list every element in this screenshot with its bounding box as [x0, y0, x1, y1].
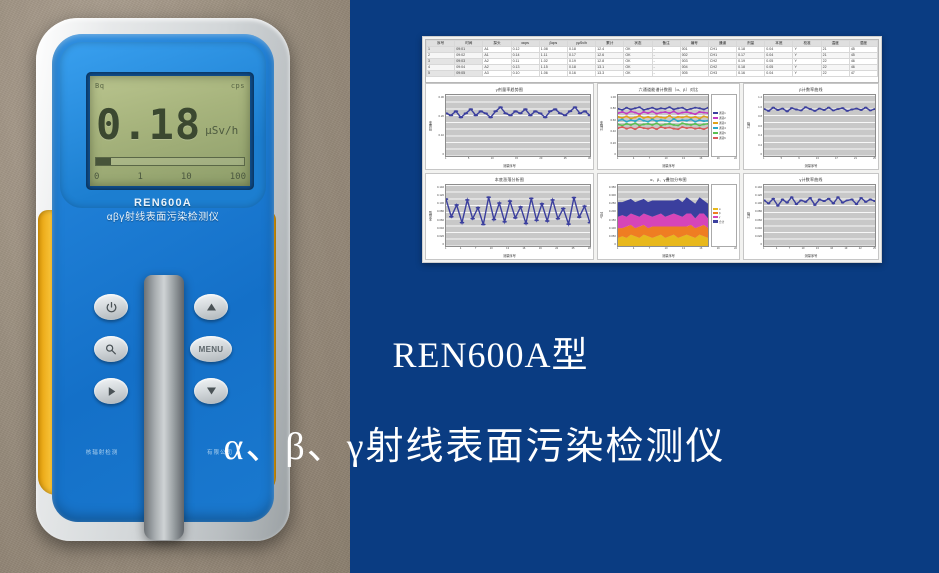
legend-label: 合计	[719, 220, 724, 224]
chart-data-point	[799, 109, 803, 111]
chart-data-point	[813, 204, 817, 206]
chart-data-point	[822, 200, 826, 202]
chart-ytick: 0.140	[755, 185, 762, 189]
table-cell: 22	[821, 71, 849, 77]
chart-plot-area	[763, 184, 876, 247]
chart-data-point	[685, 115, 688, 117]
chart-data-point	[668, 127, 671, 129]
chart-data-point	[556, 218, 561, 220]
chart-data-point	[533, 110, 538, 112]
chart-data-point	[668, 106, 671, 108]
legend-swatch	[713, 117, 718, 120]
chart-ytick: 0.100	[437, 201, 444, 205]
chart-data-point	[488, 116, 493, 118]
chart-xtick: 13	[682, 157, 685, 160]
chart-data-point	[563, 114, 568, 116]
chart-data-point	[672, 118, 675, 120]
chart-data-point	[642, 109, 645, 111]
chart-line-series	[446, 107, 590, 117]
chart-data-point	[859, 197, 863, 199]
legend-item: 通道6	[713, 136, 735, 140]
chart-data-point	[548, 110, 553, 112]
chart-data-point	[503, 112, 508, 114]
chart-ytick: 0.120	[437, 193, 444, 197]
chart-data-point	[677, 113, 680, 115]
chart-data-point	[685, 120, 688, 122]
chart-xtick: 22	[555, 247, 558, 250]
lcd-scale: 0 1 10 100	[94, 170, 246, 184]
chart-data-point	[464, 112, 469, 114]
chart-xtick: 16	[699, 247, 702, 250]
chart-ytick: 0	[760, 242, 762, 246]
legend-label: 通道3	[719, 121, 726, 125]
chart-data-point	[785, 202, 789, 204]
chart-ytick: 0.20	[610, 141, 615, 145]
chart-data-point	[685, 123, 688, 125]
lcd-tick-3: 100	[230, 172, 246, 182]
chart-xtick: 30	[588, 157, 591, 160]
chart-ytick: 0.050	[609, 234, 616, 238]
chart-xtick: 1	[445, 157, 446, 160]
chart-xtick: 1	[617, 157, 618, 160]
chart-yticks: 1.000.800.600.400.200	[605, 94, 617, 157]
chart-data-point	[771, 107, 775, 109]
chart-data-point	[677, 107, 680, 109]
chart-data-point	[855, 203, 859, 205]
legend-item: 通道1	[713, 111, 735, 115]
chart-xlabel: 测量序号	[598, 163, 739, 169]
chart-data-point	[677, 128, 680, 130]
chart-xlabel: 测量序号	[744, 253, 878, 259]
chart-data-point	[659, 112, 662, 114]
chart-body: 占比0.3500.3000.2500.2000.1500.1000.0500αβ…	[598, 183, 739, 247]
chart-data-point	[785, 110, 789, 112]
chart-ytick: 0.060	[437, 218, 444, 222]
chart-data-point	[518, 112, 523, 114]
chart-ytick: 0.30	[439, 95, 444, 99]
caption-model: REN600A型	[0, 326, 939, 378]
table-cell: CH3	[708, 71, 736, 77]
chart-data-point	[845, 199, 849, 201]
lcd-screen: Bq cps 0.18 μSv/h 0 1 10 100	[90, 76, 250, 186]
legend-item: β	[713, 212, 735, 215]
chart-data-point	[664, 117, 667, 119]
chart-xtick: 25	[572, 247, 575, 250]
play-button[interactable]	[94, 378, 128, 404]
chart-data-point	[672, 124, 675, 126]
lcd-value: 0.18	[96, 104, 201, 146]
chart-svg	[764, 185, 875, 246]
chart-data-point	[672, 111, 675, 113]
chart-ytick: 0.4	[758, 133, 762, 137]
lcd-status-row: Bq cps	[95, 79, 245, 93]
chart-xlabel: 测量序号	[598, 253, 739, 259]
chart-data-point	[813, 110, 817, 112]
chart-data-point	[621, 126, 624, 128]
legend-label: 通道2	[719, 116, 726, 120]
chart-data-point	[651, 127, 654, 129]
chart-data-point	[508, 200, 513, 202]
chart-data-point	[795, 109, 799, 111]
software-screenshot: 序号时间探头αcpsβcpsγμSv/h累计状态备注编号通道剂量本底校准温度湿度…	[422, 36, 882, 263]
chart-data-point	[513, 110, 518, 112]
legend-item: α	[713, 208, 735, 211]
power-button[interactable]	[94, 294, 128, 320]
chart-data-point	[668, 115, 671, 117]
chart-data-point	[486, 196, 491, 198]
chart-data-point	[646, 121, 649, 123]
chart-data-point	[629, 111, 632, 113]
chart-data-point	[629, 119, 632, 121]
chart-xtick: 1	[763, 157, 764, 160]
chart-data-point	[638, 115, 641, 117]
data-table-element: 序号时间探头αcpsβcpsγμSv/h累计状态备注编号通道剂量本底校准温度湿度…	[426, 40, 878, 77]
chart-xtick: 13	[816, 247, 819, 250]
chart-svg	[618, 95, 708, 156]
table-cell: 1.06	[539, 71, 567, 77]
chart-data-point	[702, 128, 705, 130]
chart-xtick: 7	[649, 247, 650, 250]
legend-label: 通道1	[719, 111, 726, 115]
chart-data-point	[651, 119, 654, 121]
chart-data-point	[540, 203, 545, 205]
chart-ytick: 0.040	[437, 226, 444, 230]
chart-plot-area	[617, 184, 709, 247]
chart-xtick: 1	[617, 247, 618, 250]
legend-swatch	[713, 127, 718, 130]
chart-panel: β计数率曲线计数1.21.00.80.60.40.2015913172125测量…	[743, 83, 879, 170]
chart-data-point	[465, 199, 470, 201]
chart-xtick: 10	[802, 247, 805, 250]
legend-swatch	[713, 216, 718, 219]
chart-data-point	[694, 116, 697, 118]
chart-data-point	[469, 108, 474, 110]
chart-data-point	[672, 128, 675, 130]
chart-data-point	[478, 110, 483, 112]
legend-label: β	[719, 212, 721, 215]
chart-data-point	[646, 123, 649, 125]
up-button[interactable]	[194, 294, 228, 320]
legend-swatch	[713, 112, 718, 115]
chart-data-point	[634, 120, 637, 122]
chart-data-point	[460, 222, 465, 224]
chart-yticks: 0.1400.1200.1000.0800.0600.0400.0200	[433, 184, 445, 247]
chart-data-point	[497, 202, 502, 204]
chart-ytick: 1.2	[758, 95, 762, 99]
table-cell: 13.3	[596, 71, 624, 77]
chart-data-point	[767, 110, 771, 112]
chart-ytick: 0.300	[609, 193, 616, 197]
chart-data-point	[864, 107, 868, 109]
chart-xtick: 5	[781, 157, 782, 160]
chart-data-point	[545, 220, 550, 222]
charts-grid: γ剂量率趋势图剂量率0.300.200.100151015202530测量序号六…	[425, 83, 879, 260]
chart-ytick: 0	[442, 152, 444, 156]
chart-yticks: 0.1400.1200.1000.0800.0600.0400.0200	[751, 184, 763, 247]
chart-data-point	[668, 123, 671, 125]
chart-data-point	[634, 122, 637, 124]
chart-data-point	[689, 119, 692, 121]
chart-plot-area	[445, 184, 591, 247]
chart-data-point	[568, 110, 573, 112]
chart-data-point	[634, 128, 637, 130]
chart-data-point	[790, 196, 794, 198]
chart-xtick: 17	[835, 157, 838, 160]
chart-data-point	[818, 108, 822, 110]
chart-ytick: 0.250	[609, 201, 616, 205]
chart-panel: 本底涨落分析图本底值0.1400.1200.1000.0800.0600.040…	[425, 173, 594, 260]
chart-data-point	[827, 107, 831, 109]
chart-data-point	[808, 108, 812, 110]
legend-swatch	[713, 132, 718, 135]
chart-data-point	[523, 108, 528, 110]
chart-data-point	[804, 106, 808, 108]
legend-item: 通道2	[713, 116, 735, 120]
chart-xtick: 13	[506, 247, 509, 250]
lcd-tick-0: 0	[94, 172, 99, 182]
chart-data-point	[577, 216, 582, 218]
chart-data-point	[698, 111, 701, 113]
chart-data-point	[646, 128, 649, 130]
triangle-up-icon	[205, 301, 218, 313]
play-icon	[105, 385, 118, 398]
chart-data-point	[573, 106, 578, 108]
chart-yticks: 0.3500.3000.2500.2000.1500.1000.0500	[605, 184, 617, 247]
lcd-main-reading: 0.18 μSv/h	[96, 96, 246, 154]
chart-data-point	[492, 218, 497, 220]
legend-label: α	[719, 208, 721, 211]
chart-xtick: 7	[475, 247, 476, 250]
chart-data-point	[836, 196, 840, 198]
chart-data-point	[795, 203, 799, 205]
legend-swatch	[713, 208, 718, 211]
chart-data-point	[625, 128, 628, 130]
table-cell: 47	[849, 71, 877, 77]
chart-data-point	[625, 107, 628, 109]
chart-data-point	[513, 217, 518, 219]
chart-data-point	[850, 199, 854, 201]
chart-data-point	[629, 108, 632, 110]
chart-ytick: 0	[760, 152, 762, 156]
chart-data-point	[566, 223, 571, 225]
table-cell: 005	[680, 71, 708, 77]
chart-xtick: 19	[539, 247, 542, 250]
chart-data-point	[702, 108, 705, 110]
chart-data-point	[550, 199, 555, 201]
chart-data-point	[655, 122, 658, 124]
chart-xtick: 13	[816, 157, 819, 160]
chart-data-point	[776, 205, 780, 207]
chart-data-point	[850, 109, 854, 111]
chart-ytick: 0.040	[755, 226, 762, 230]
chart-data-point	[459, 116, 464, 118]
chart-data-point	[818, 199, 822, 201]
chart-data-point	[841, 107, 845, 109]
chart-data-point	[664, 111, 667, 113]
table-cell: OK	[624, 71, 652, 77]
table-cell: 0.16	[567, 71, 595, 77]
chart-data-point	[832, 202, 836, 204]
chart-line-series	[764, 197, 875, 206]
chart-data-point	[646, 116, 649, 118]
chart-plot-area	[763, 94, 876, 157]
chart-panel: γ剂量率趋势图剂量率0.300.200.100151015202530测量序号	[425, 83, 594, 170]
chart-data-point	[582, 205, 587, 207]
device-handle	[144, 275, 184, 540]
chart-data-point	[651, 124, 654, 126]
lcd-tick-2: 10	[181, 172, 192, 182]
chart-yticks: 0.300.200.100	[433, 94, 445, 157]
chart-xtick: 25	[873, 157, 876, 160]
chart-data-point	[625, 123, 628, 125]
chart-xtick: 15	[515, 157, 518, 160]
chart-xtick: 25	[873, 247, 876, 250]
chart-data-point	[681, 126, 684, 128]
chart-body: 计数率1.000.800.600.400.200通道1通道2通道3通道4通道5通…	[598, 93, 739, 157]
chart-ytick: 1.0	[758, 105, 762, 109]
chart-data-point	[483, 112, 488, 114]
chart-svg	[764, 95, 875, 156]
chart-data-point	[864, 201, 868, 203]
chart-data-point	[668, 112, 671, 114]
chart-legend: 通道1通道2通道3通道4通道5通道6	[711, 94, 737, 157]
chart-data-point	[659, 107, 662, 109]
chart-data-point	[694, 121, 697, 123]
chart-xtick: 4	[776, 247, 777, 250]
chart-data-point	[771, 198, 775, 200]
legend-item: γ	[713, 216, 735, 219]
lcd-bargraph	[95, 157, 245, 166]
chart-data-point	[698, 107, 701, 109]
chart-data-point	[702, 115, 705, 117]
product-photo: Bq cps 0.18 μSv/h 0 1 10 100 REN600A αβγ…	[0, 0, 350, 573]
down-button[interactable]	[194, 378, 228, 404]
chart-xtick: 19	[717, 157, 720, 160]
chart-data-point	[638, 126, 641, 128]
chart-data-point	[689, 112, 692, 114]
triangle-down-icon	[205, 385, 218, 397]
chart-data-point	[694, 113, 697, 115]
chart-data-point	[561, 208, 566, 210]
chart-data-point	[702, 112, 705, 114]
chart-ytick: 0.60	[610, 118, 615, 122]
chart-data-point	[634, 112, 637, 114]
chart-data-point	[588, 114, 590, 116]
chart-data-point	[681, 107, 684, 109]
chart-xtick: 16	[699, 157, 702, 160]
table-cell: 0.16	[737, 71, 765, 77]
lcd-unit: μSv/h	[205, 124, 238, 137]
chart-data-point	[659, 116, 662, 118]
chart-data-point	[634, 116, 637, 118]
chart-data-point	[558, 112, 563, 114]
chart-data-point	[689, 108, 692, 110]
chart-xtick: 10	[491, 157, 494, 160]
legend-item: 通道4	[713, 126, 735, 130]
chart-xtick: 13	[682, 247, 685, 250]
chart-data-point	[689, 127, 692, 129]
chart-xtick: 5	[468, 157, 469, 160]
chart-data-point	[659, 126, 662, 128]
lcd-tick-1: 1	[137, 172, 142, 182]
chart-data-point	[869, 109, 873, 111]
chart-data-point	[625, 121, 628, 123]
chart-ytick: 0	[614, 242, 616, 246]
chart-data-point	[529, 197, 534, 199]
chart-data-point	[655, 115, 658, 117]
chart-legend: αβγ合计	[711, 184, 737, 247]
chart-data-point	[698, 119, 701, 121]
chart-data-point	[790, 107, 794, 109]
table-row[interactable]: 509:05A30.101.060.1613.3OK-005CH30.160.0…	[427, 71, 878, 77]
chart-data-point	[508, 114, 513, 116]
chart-plot-area	[445, 94, 591, 157]
chart-data-point	[855, 108, 859, 110]
chart-svg	[618, 185, 708, 246]
legend-item: 合计	[713, 220, 735, 224]
chart-data-point	[702, 120, 705, 122]
chart-data-point	[664, 108, 667, 110]
chart-data-point	[677, 124, 680, 126]
chart-data-point	[677, 116, 680, 118]
table-cell: 5	[427, 71, 455, 77]
chart-xtick: 7	[649, 157, 650, 160]
legend-swatch	[713, 122, 718, 125]
chart-xtick: 16	[830, 247, 833, 250]
chart-data-point	[664, 123, 667, 125]
chart-data-point	[524, 222, 529, 224]
chart-xtick: 10	[665, 247, 668, 250]
chart-data-point	[685, 109, 688, 111]
chart-panel: α、β、γ叠加分布图占比0.3500.3000.2500.2000.1500.1…	[597, 173, 740, 260]
chart-ytick: 0.80	[610, 106, 615, 110]
chart-data-point	[659, 119, 662, 121]
chart-ytick: 0.120	[755, 193, 762, 197]
chart-data-point	[642, 111, 645, 113]
power-icon	[105, 301, 118, 314]
chart-xtick: 1	[763, 247, 764, 250]
table-cell: A3	[483, 71, 511, 77]
chart-data-point	[470, 218, 475, 220]
chart-panel: 六通道能谱计数图（α、β）对比计数率1.000.800.600.400.200通…	[597, 83, 740, 170]
chart-ytick: 0.2	[758, 143, 762, 147]
legend-label: 通道6	[719, 136, 726, 140]
chart-data-point	[672, 108, 675, 110]
chart-xtick: 20	[539, 157, 542, 160]
chart-xlabel: 测量序号	[744, 163, 878, 169]
chart-data-point	[681, 112, 684, 114]
chart-data-point	[473, 114, 478, 116]
data-table: 序号时间探头αcpsβcpsγμSv/h累计状态备注编号通道剂量本底校准温度湿度…	[425, 39, 879, 83]
chart-data-point	[642, 123, 645, 125]
chart-ytick: 0.40	[610, 129, 615, 133]
chart-data-point	[454, 110, 459, 112]
chart-data-point	[655, 120, 658, 122]
chart-data-point	[538, 112, 543, 114]
chart-xtick: 4	[633, 247, 634, 250]
chart-data-point	[534, 219, 539, 221]
chart-data-point	[476, 207, 481, 209]
chart-data-point	[869, 199, 873, 201]
chart-data-point	[827, 198, 831, 200]
chart-xtick: 19	[844, 247, 847, 250]
chart-data-point	[685, 127, 688, 129]
chart-data-point	[698, 127, 701, 129]
chart-xtick: 9	[798, 157, 799, 160]
chart-data-point	[664, 127, 667, 129]
chart-xtick: 22	[859, 247, 862, 250]
chart-ytick: 0.080	[755, 209, 762, 213]
